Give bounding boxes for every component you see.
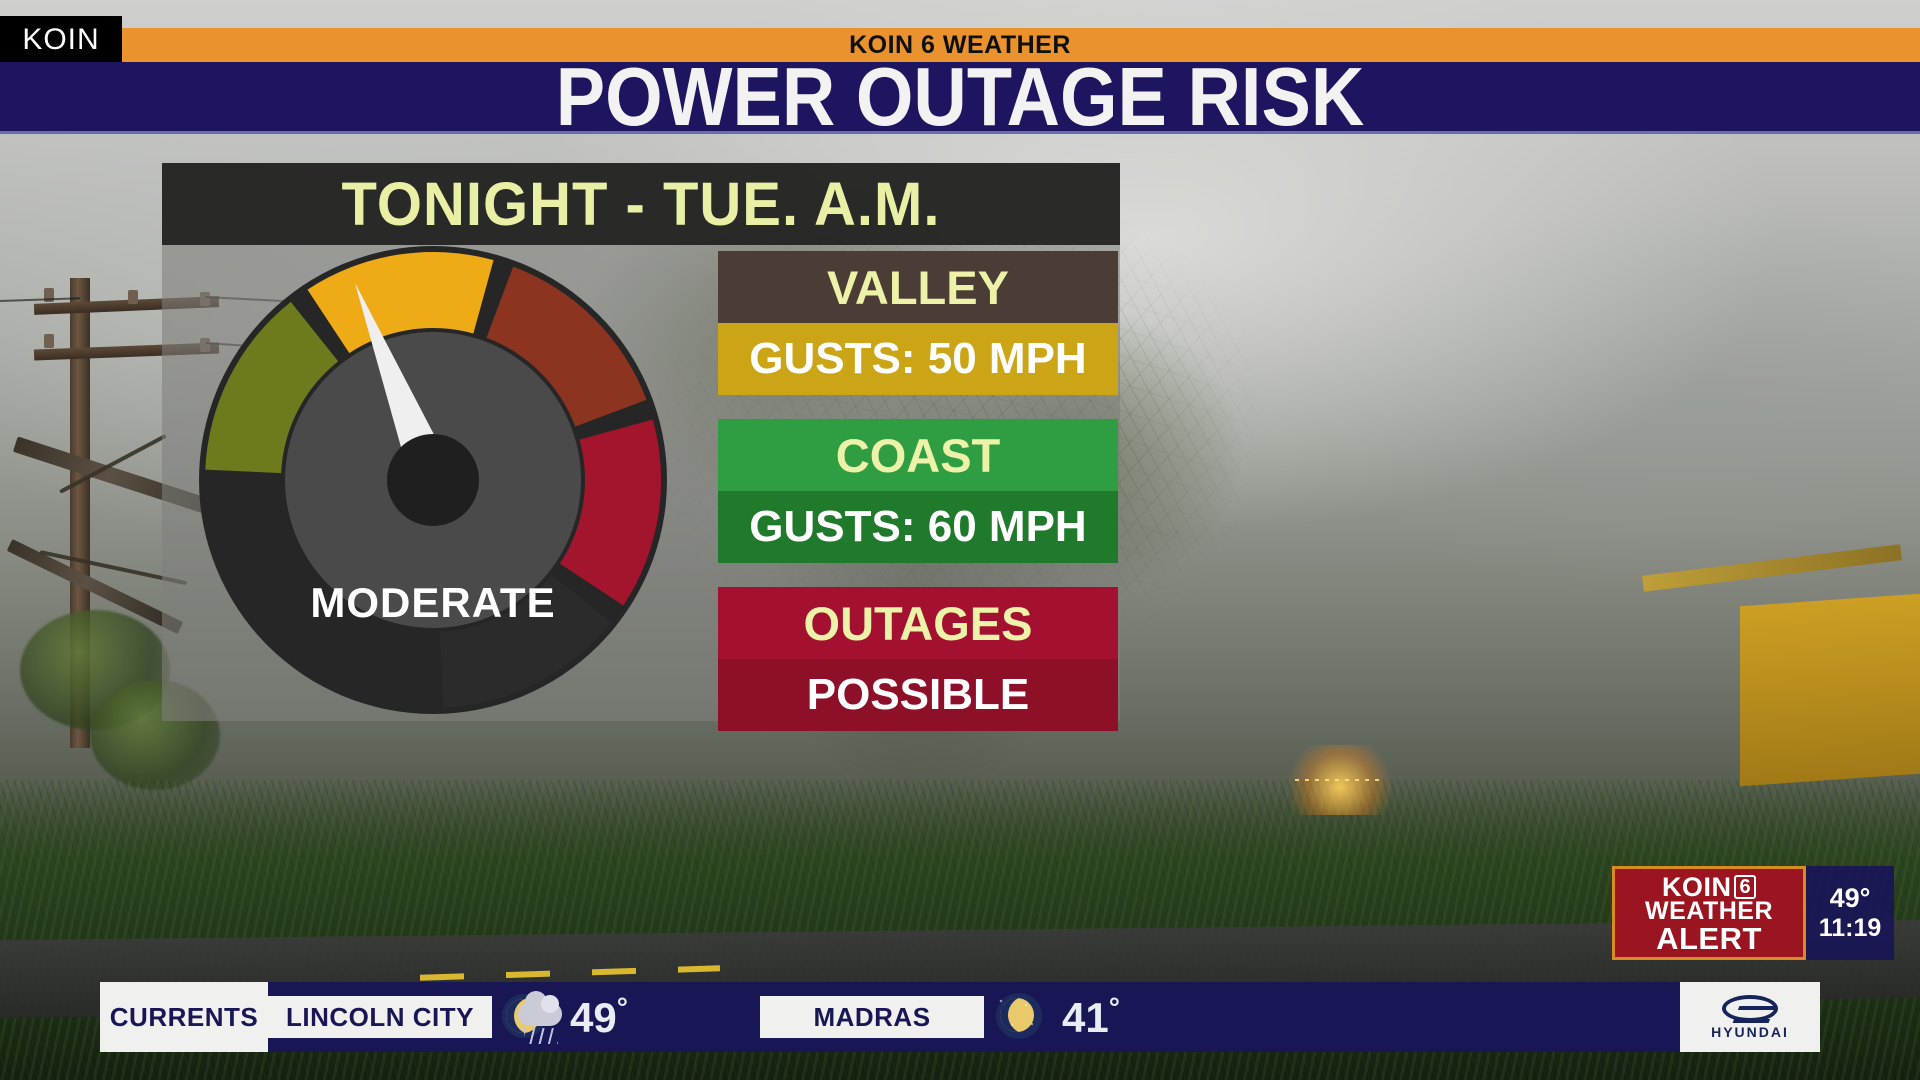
hyundai-emblem bbox=[1722, 995, 1778, 1022]
ticker-city-madras[interactable]: MADRAS 41° bbox=[760, 982, 1120, 1052]
alert-clock: 11:19 bbox=[1819, 914, 1882, 943]
ticker-label: CURRENTS bbox=[100, 982, 268, 1052]
station-logo-bug: KOIN bbox=[0, 16, 122, 64]
gauge-dial-svg bbox=[198, 245, 668, 715]
insulator bbox=[44, 334, 54, 348]
bar-valley-header-text: VALLEY bbox=[827, 260, 1009, 315]
degree-symbol: ° bbox=[617, 992, 628, 1023]
insulator bbox=[128, 290, 138, 304]
weather-alert-badge: KOIN 6 WEATHER ALERT bbox=[1612, 866, 1806, 960]
gauge-level-label: MODERATE bbox=[198, 579, 668, 627]
bar-outages-header-text: OUTAGES bbox=[804, 596, 1033, 651]
ticker-city-lincoln-city[interactable]: LINCOLN CITY 49° bbox=[268, 982, 628, 1052]
station-logo-text: KOIN bbox=[22, 23, 99, 57]
ticker-city-temp: 41° bbox=[1062, 992, 1120, 1042]
alert-channel-number: 6 bbox=[1734, 875, 1756, 899]
broadcast-screen: KOIN 6 WEATHER KOIN POWER OUTAGE RISK TO… bbox=[0, 0, 1920, 1080]
alert-temperature: 49° bbox=[1830, 883, 1871, 914]
currents-ticker[interactable]: CURRENTS LINCOLN CITY 49° MADRAS 41° bbox=[100, 982, 1820, 1052]
forecast-timeframe-title: TONIGHT - TUE. A.M. bbox=[342, 168, 941, 239]
alert-line-3: ALERT bbox=[1656, 924, 1762, 953]
bar-coast-header-text: COAST bbox=[836, 428, 1001, 483]
forecast-panel-header: TONIGHT - TUE. A.M. bbox=[162, 163, 1120, 245]
gauge-hub bbox=[387, 434, 479, 526]
ticker-temp-value: 41 bbox=[1062, 994, 1109, 1041]
ticker-city-name: LINCOLN CITY bbox=[268, 996, 492, 1038]
hyundai-wordmark: HYUNDAI bbox=[1711, 1024, 1789, 1040]
ticker-city-name: MADRAS bbox=[760, 996, 984, 1038]
degree-symbol: ° bbox=[1109, 992, 1120, 1023]
hyundai-logo-icon[interactable]: HYUNDAI bbox=[1680, 982, 1820, 1052]
ticker-city-temp: 49° bbox=[570, 992, 628, 1042]
bar-outages-value-text: POSSIBLE bbox=[807, 670, 1030, 720]
alert-temp-clock: 49° 11:19 bbox=[1806, 866, 1894, 960]
moon-cloud-rain-icon bbox=[492, 982, 570, 1052]
moon-stars-icon bbox=[984, 982, 1062, 1052]
ticker-temp-value: 49 bbox=[570, 994, 617, 1041]
power-outage-risk-gauge: MODERATE bbox=[198, 245, 668, 715]
